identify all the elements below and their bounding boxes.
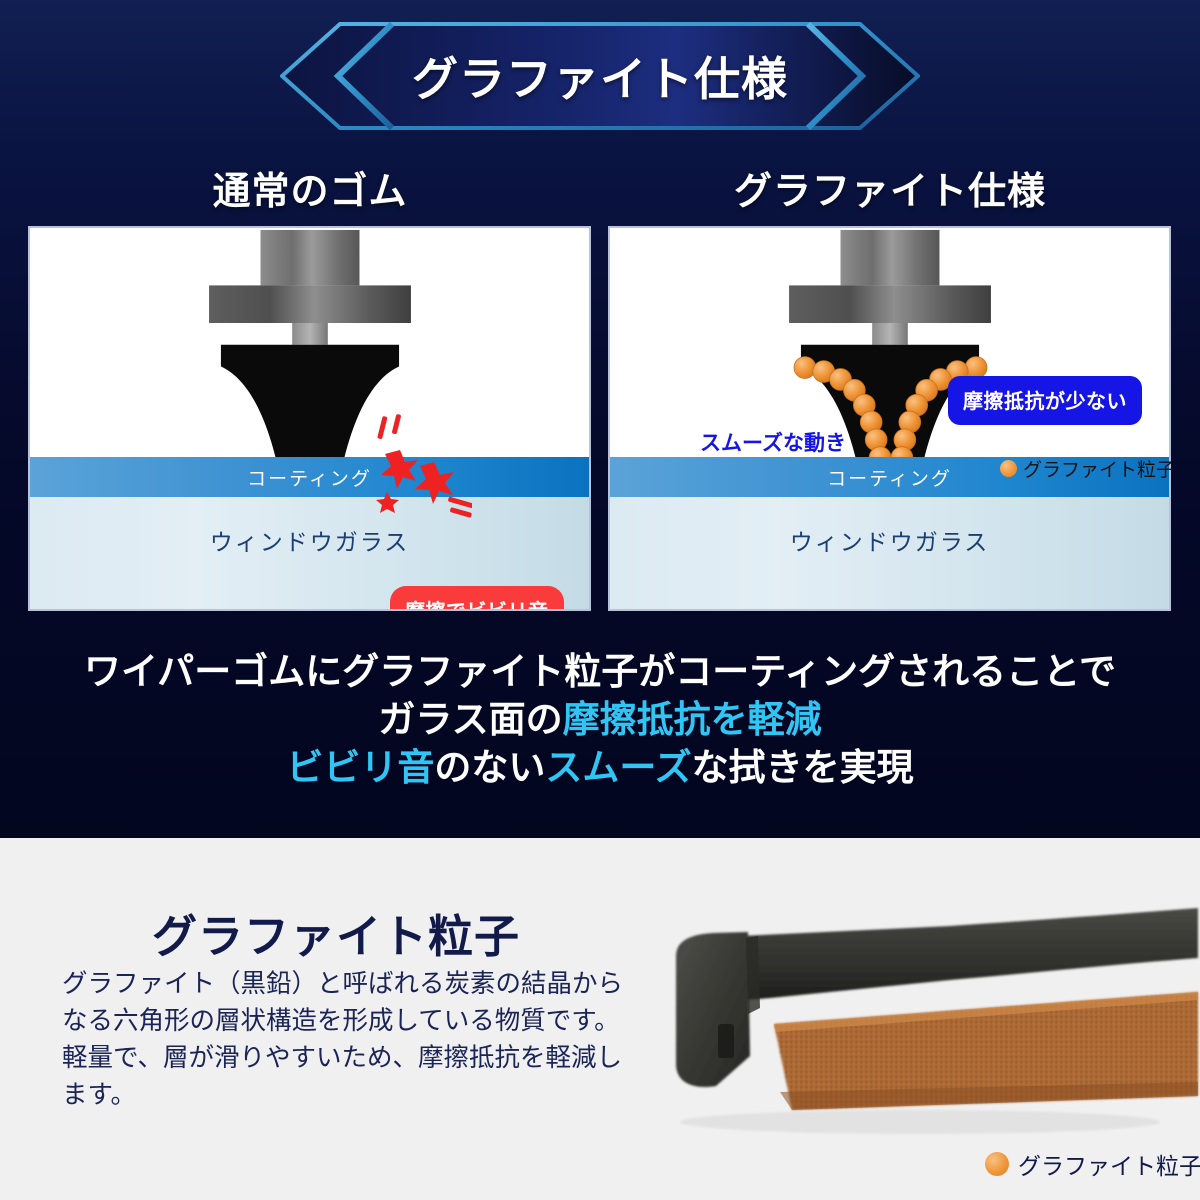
infographic-page: グラファイト仕様 通常のゴム グラファイト仕様 bbox=[0, 0, 1200, 1200]
coating-layer-left: コーティング bbox=[30, 457, 589, 497]
graphite-particle-legend-photo-text: グラファイト粒子 bbox=[1018, 1147, 1200, 1181]
summary-line-3b: のない bbox=[434, 747, 545, 788]
left-comparison-panel: コーティング ウィンドウガラス 摩 bbox=[28, 226, 591, 611]
left-panel-title: 通常のゴム bbox=[25, 160, 595, 215]
chatter-noise-badge: 摩擦でビビリ音 bbox=[390, 586, 564, 611]
smooth-motion-label: スムーズな動き bbox=[700, 427, 846, 457]
graphite-particle-legend-text: グラファイト粒子 bbox=[1023, 455, 1175, 482]
summary-line-2a: ガラス面の bbox=[378, 699, 562, 740]
wiper-blade-photo bbox=[620, 896, 1200, 1146]
graphite-particle-dot-icon-large bbox=[985, 1152, 1009, 1176]
summary-copy: ワイパーゴムにグラファイト粒子がコーティングされることで ガラス面の摩擦抵抗を軽… bbox=[0, 648, 1200, 792]
header-banner: グラファイト仕様 bbox=[280, 22, 920, 130]
summary-line-3d: な拭きを実現 bbox=[692, 747, 914, 788]
glass-label-right: ウィンドウガラス bbox=[790, 529, 990, 555]
summary-line-3-highlight-a: ビビリ音 bbox=[286, 747, 434, 788]
summary-line-3: ビビリ音のないスムーズな拭きを実現 bbox=[0, 744, 1200, 792]
graphite-particle-legend-inline: グラファイト粒子 bbox=[1000, 455, 1175, 482]
bottom-heading: グラファイト粒子 bbox=[152, 900, 520, 965]
header-title: グラファイト仕様 bbox=[280, 22, 920, 130]
summary-line-2: ガラス面の摩擦抵抗を軽減 bbox=[0, 696, 1200, 744]
bottom-body-text: グラファイト（黒鉛）と呼ばれる炭素の結晶からなる六角形の層状構造を形成している物… bbox=[62, 966, 632, 1114]
glass-label-left: ウィンドウガラス bbox=[210, 529, 410, 555]
summary-line-1: ワイパーゴムにグラファイト粒子がコーティングされることで bbox=[0, 648, 1200, 696]
glass-layer-right: ウィンドウガラス bbox=[610, 497, 1169, 609]
low-friction-badge: 摩擦抵抗が少ない bbox=[948, 376, 1142, 425]
friction-spark-icon bbox=[352, 414, 472, 519]
graphite-particle-legend-photo: グラファイト粒子 bbox=[985, 1147, 1200, 1181]
summary-line-3-highlight-b: スムーズ bbox=[545, 747, 691, 788]
graphite-particle-dot-icon bbox=[1000, 460, 1017, 477]
summary-line-2-highlight: 摩擦抵抗を軽減 bbox=[563, 699, 822, 740]
bottom-section: グラファイト粒子 グラファイト（黒鉛）と呼ばれる炭素の結晶からなる六角形の層状構… bbox=[0, 838, 1200, 1200]
right-panel-title: グラファイト仕様 bbox=[605, 160, 1175, 215]
top-section: グラファイト仕様 通常のゴム グラファイト仕様 bbox=[0, 0, 1200, 838]
coating-label-right: コーティング bbox=[827, 464, 952, 491]
